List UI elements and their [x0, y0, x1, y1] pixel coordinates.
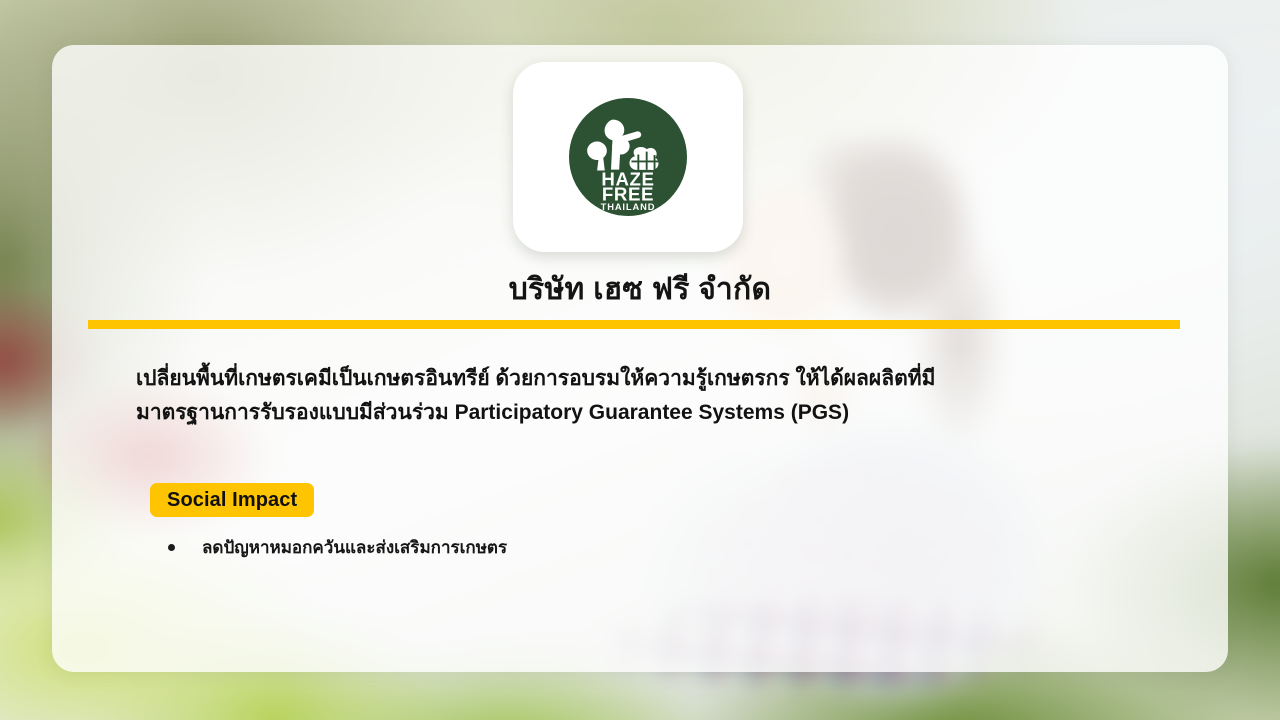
logo-word-free: FREE [602, 183, 654, 204]
list-item-label: ลดปัญหาหมอกควันและส่งเสริมการเกษตร [202, 534, 507, 561]
social-impact-list: ลดปัญหาหมอกควันและส่งเสริมการเกษตร [168, 534, 507, 561]
company-title: บริษัท เฮซ ฟรี จำกัด [0, 270, 1280, 309]
company-logo-tile: HAZE FREE THAILAND [513, 62, 743, 252]
description-line-2: มาตรฐานการรับรองแบบมีส่วนร่วม Participat… [136, 396, 1136, 430]
yellow-divider [88, 320, 1180, 329]
haze-free-thailand-logo-icon: HAZE FREE THAILAND [569, 98, 687, 216]
list-item: ลดปัญหาหมอกควันและส่งเสริมการเกษตร [168, 534, 507, 561]
bullet-dot-icon [168, 544, 175, 551]
description-line-1: เปลี่ยนพื้นที่เกษตรเคมีเป็นเกษตรอินทรีย์… [136, 362, 1136, 396]
social-impact-badge: Social Impact [150, 483, 314, 517]
description-text: เปลี่ยนพื้นที่เกษตรเคมีเป็นเกษตรอินทรีย์… [136, 362, 1136, 430]
logo-word-thailand: THAILAND [601, 202, 656, 212]
